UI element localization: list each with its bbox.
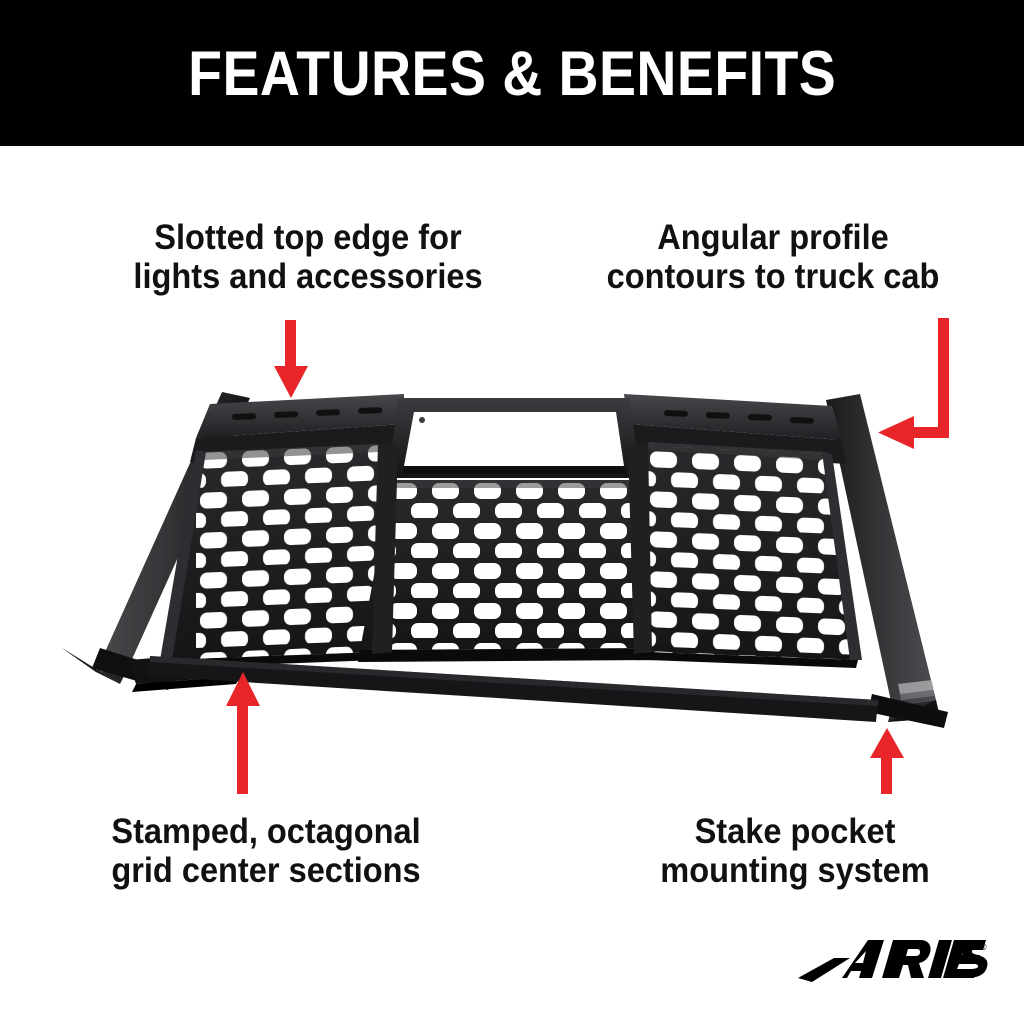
cab-window-cutout bbox=[388, 398, 640, 478]
left-grid-panel bbox=[150, 430, 400, 680]
callout-stake-pocket: Stake pocket mounting system bbox=[576, 812, 1013, 890]
callout-line: Stamped, octagonal bbox=[43, 812, 489, 851]
slotted-top-edge bbox=[190, 394, 846, 464]
left-angular-post bbox=[62, 392, 250, 690]
callout-angular-profile: Angular profile contours to truck cab bbox=[554, 218, 991, 296]
post-brand-badge bbox=[898, 680, 934, 700]
arrow-down-slotted-top-edge bbox=[270, 320, 312, 398]
right-grid-panel bbox=[630, 430, 890, 680]
arrow-up-octagonal-grid bbox=[222, 672, 264, 794]
feature-benefits-infographic: FEATURES & BENEFITS bbox=[0, 0, 1024, 1024]
callout-line: mounting system bbox=[576, 851, 1013, 890]
center-grid-panel bbox=[350, 470, 680, 670]
callout-octagonal-grid: Stamped, octagonal grid center sections bbox=[43, 812, 489, 890]
arrow-elbow-left-angular-profile bbox=[878, 318, 964, 454]
page-title: FEATURES & BENEFITS bbox=[188, 43, 836, 106]
panel-divider-posts bbox=[372, 444, 652, 654]
callout-line: Angular profile bbox=[554, 218, 991, 257]
callout-line: Slotted top edge for bbox=[66, 218, 550, 257]
callout-line: grid center sections bbox=[43, 851, 489, 890]
header-band: FEATURES & BENEFITS bbox=[0, 0, 1024, 146]
registered-trademark-symbol: ® bbox=[980, 942, 987, 952]
callout-line: contours to truck cab bbox=[554, 257, 991, 296]
arrow-up-stake-pocket bbox=[866, 728, 908, 794]
callout-slotted-top-edge: Slotted top edge for lights and accessor… bbox=[66, 218, 550, 296]
callout-line: lights and accessories bbox=[66, 257, 550, 296]
callout-line: Stake pocket bbox=[576, 812, 1013, 851]
aries-brand-logo: ® bbox=[798, 934, 988, 988]
